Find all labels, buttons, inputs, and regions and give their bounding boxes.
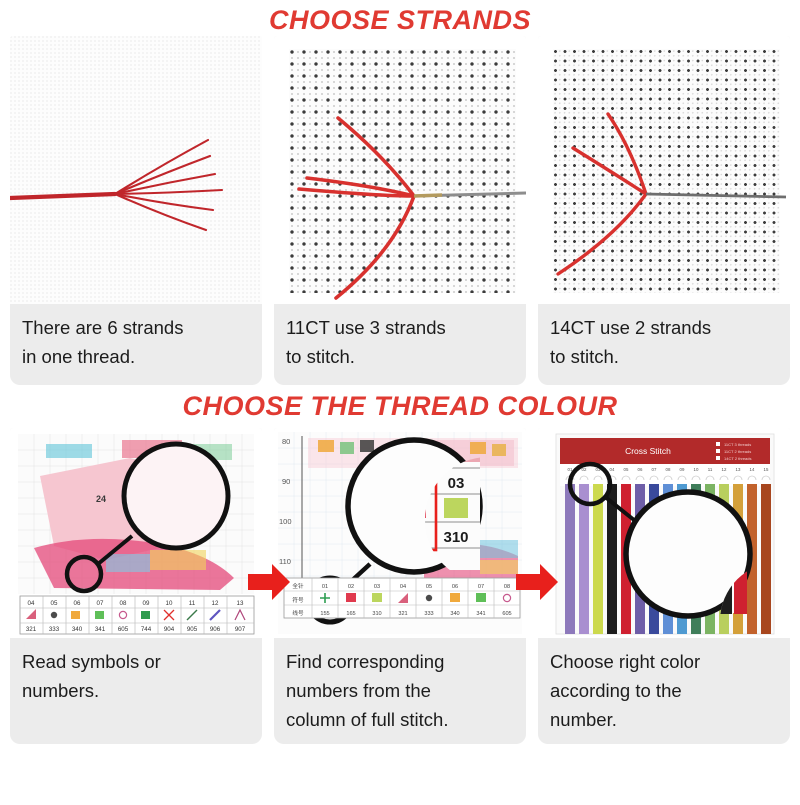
svg-text:04: 04 <box>28 600 35 607</box>
svg-text:08: 08 <box>666 467 671 472</box>
svg-text:906: 906 <box>210 626 221 633</box>
svg-text:08: 08 <box>504 584 510 590</box>
caption-choose-color: Choose right color according to the numb… <box>538 638 790 744</box>
svg-text:14CT 2 threads: 14CT 2 threads <box>724 456 752 461</box>
svg-text:符号: 符号 <box>292 596 304 604</box>
svg-text:03: 03 <box>448 475 465 492</box>
media-six-strands <box>10 36 262 304</box>
svg-text:11CT 3 threads: 11CT 3 threads <box>724 442 751 447</box>
media-thread-card: Cross Stitch 11CT 3 threads 11CT 2 threa… <box>538 428 790 638</box>
caption-line: 14CT use 2 strands <box>550 314 778 343</box>
svg-text:05: 05 <box>51 600 58 607</box>
caption-line: to stitch. <box>550 343 778 372</box>
caption-line: numbers from the <box>286 677 514 706</box>
symbol-key-table: 全针符号线号 010203 040506 0708 155165310 3213… <box>284 578 520 618</box>
svg-text:333: 333 <box>49 626 60 633</box>
right-arrow-icon <box>514 562 560 602</box>
svg-text:907: 907 <box>235 626 246 633</box>
svg-text:340: 340 <box>450 611 459 617</box>
svg-text:04: 04 <box>610 467 615 472</box>
svg-text:15: 15 <box>764 467 769 472</box>
card-choose-color: Cross Stitch 11CT 3 threads 11CT 2 threa… <box>538 428 790 744</box>
svg-text:02: 02 <box>348 584 354 590</box>
caption-line: Choose right color <box>550 648 778 677</box>
svg-text:904: 904 <box>164 626 175 633</box>
caption-line: column of full stitch. <box>286 706 514 735</box>
svg-text:321: 321 <box>398 611 407 617</box>
card-14ct: 14CT use 2 strands to stitch. <box>538 36 790 385</box>
chart-cell-label: 24 <box>96 494 106 504</box>
svg-text:13: 13 <box>237 600 244 607</box>
svg-text:340: 340 <box>72 626 83 633</box>
caption-line: 11CT use 3 strands <box>286 314 514 343</box>
svg-text:11: 11 <box>708 467 713 472</box>
thread-colour-card-row: 24 07 <box>0 428 800 744</box>
caption-14ct: 14CT use 2 strands to stitch. <box>538 304 790 385</box>
section-title-choose-strands: CHOOSE STRANDS <box>0 5 800 36</box>
svg-text:80: 80 <box>282 437 290 446</box>
card-six-strands: There are 6 strands in one thread. <box>10 36 262 385</box>
svg-text:07: 07 <box>478 584 484 590</box>
svg-text:01: 01 <box>322 584 328 590</box>
three-strands-needle-illustration <box>274 36 526 304</box>
svg-text:线号: 线号 <box>292 609 304 617</box>
svg-text:08: 08 <box>120 600 127 607</box>
caption-six-strands: There are 6 strands in one thread. <box>10 304 262 385</box>
pattern-chart-illustration: 24 07 <box>10 428 262 638</box>
caption-line: number. <box>550 706 778 735</box>
svg-text:07: 07 <box>652 467 657 472</box>
caption-line: numbers. <box>22 677 250 706</box>
caption-find-numbers: Find corresponding numbers from the colu… <box>274 638 526 744</box>
svg-text:310: 310 <box>443 529 468 546</box>
svg-text:06: 06 <box>452 584 458 590</box>
svg-text:155: 155 <box>320 611 329 617</box>
svg-text:10: 10 <box>694 467 699 472</box>
svg-text:10: 10 <box>166 600 173 607</box>
svg-text:14: 14 <box>750 467 755 472</box>
media-pattern-chart: 24 07 <box>10 428 262 638</box>
card-find-numbers: 80 90 100 110 <box>274 428 526 744</box>
caption-line: according to the <box>550 677 778 706</box>
two-strands-needle-illustration <box>538 36 790 304</box>
strands-card-row: There are 6 strands in one thread. 11CT … <box>0 36 800 385</box>
right-arrow-icon <box>246 562 292 602</box>
svg-text:12: 12 <box>212 600 219 607</box>
svg-text:06: 06 <box>74 600 81 607</box>
svg-text:03: 03 <box>374 584 380 590</box>
card-11ct: 11CT use 3 strands to stitch. <box>274 36 526 385</box>
svg-text:09: 09 <box>680 467 685 472</box>
thread-organizer-illustration: Cross Stitch 11CT 3 threads 11CT 2 threa… <box>538 428 790 638</box>
svg-text:04: 04 <box>400 584 406 590</box>
caption-line: to stitch. <box>286 343 514 372</box>
caption-line: Find corresponding <box>286 648 514 677</box>
caption-11ct: 11CT use 3 strands to stitch. <box>274 304 526 385</box>
svg-text:341: 341 <box>95 626 106 633</box>
caption-line: in one thread. <box>22 343 250 372</box>
caption-line: There are 6 strands <box>22 314 250 343</box>
caption-read-symbols: Read symbols or numbers. <box>10 638 262 715</box>
svg-text:341: 341 <box>476 611 485 617</box>
thread-card-title: Cross Stitch <box>625 446 671 456</box>
media-symbol-key: 80 90 100 110 <box>274 428 526 638</box>
green-square-symbol <box>444 498 468 518</box>
svg-text:905: 905 <box>187 626 198 633</box>
svg-text:605: 605 <box>118 626 129 633</box>
caption-line: Read symbols or <box>22 648 250 677</box>
svg-text:333: 333 <box>424 611 433 617</box>
svg-text:11: 11 <box>189 600 196 607</box>
media-11ct <box>274 36 526 304</box>
symbol-key-illustration: 80 90 100 110 <box>274 428 526 638</box>
section-title-choose-thread-colour: CHOOSE THE THREAD COLOUR <box>0 391 800 422</box>
svg-text:13: 13 <box>736 467 741 472</box>
svg-text:90: 90 <box>282 477 290 486</box>
svg-text:321: 321 <box>26 626 37 633</box>
svg-text:全针: 全针 <box>292 582 304 590</box>
card-read-symbols: 24 07 <box>10 428 262 744</box>
svg-text:05: 05 <box>624 467 629 472</box>
svg-text:05: 05 <box>426 584 432 590</box>
media-14ct <box>538 36 790 304</box>
svg-text:100: 100 <box>279 517 292 526</box>
six-strands-illustration <box>10 36 262 304</box>
svg-text:605: 605 <box>502 611 511 617</box>
svg-text:11CT 2 threads: 11CT 2 threads <box>724 449 751 454</box>
svg-text:07: 07 <box>97 600 104 607</box>
svg-text:12: 12 <box>722 467 727 472</box>
svg-text:06: 06 <box>638 467 643 472</box>
svg-text:165: 165 <box>346 611 355 617</box>
pattern-legend-table: 040506 070809 101112 13 321333340 341605… <box>20 596 254 634</box>
svg-text:310: 310 <box>372 611 381 617</box>
svg-text:09: 09 <box>143 600 150 607</box>
svg-text:744: 744 <box>141 626 152 633</box>
